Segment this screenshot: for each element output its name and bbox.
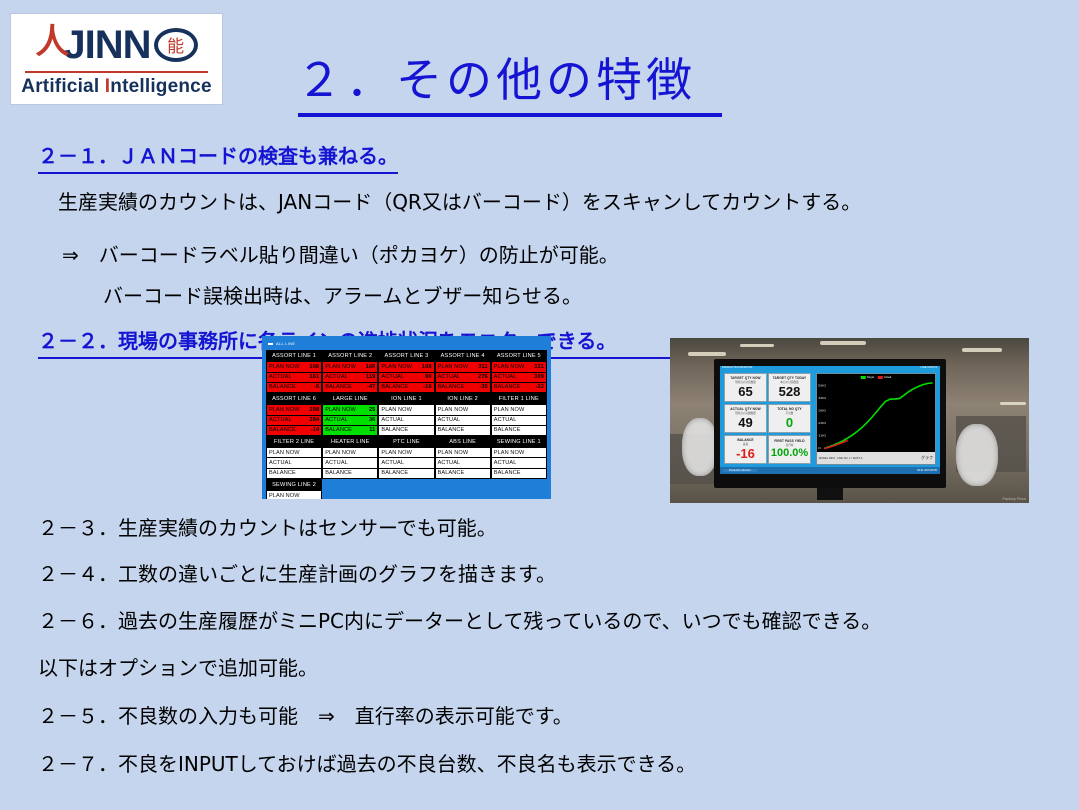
taskbar-clock: 09:31 2021/11/05 — [917, 469, 937, 472]
line-card-row: PLAN NOW — [266, 448, 322, 458]
monitor-window-titlebar: PRODUCTION MONITOR LINE STATUS — [720, 366, 940, 371]
monitor-content: TARGET QTY NOW現時点の計画数量65TARGET QTY TODAY… — [720, 371, 940, 465]
chart-y-tick: 0 — [818, 446, 822, 450]
line-card-row-label: BALANCE — [438, 384, 465, 390]
line-card-title: ION LINE 2 — [435, 393, 491, 405]
line-card-row-label: PLAN NOW — [438, 364, 469, 370]
line-card[interactable]: SEWING LINE 2PLAN NOWACTUALBALANCE — [266, 479, 322, 499]
line-card-row-value: 284 — [310, 417, 320, 423]
bottom-line-2-7: ２－７．不良をINPUTしておけば過去の不良台数、不良名も表示できる。 — [38, 748, 696, 777]
line-card-row-value: 25 — [369, 407, 375, 413]
kpi-label-en: FIRST PASS YIELD — [774, 439, 804, 443]
line-card-row: ACTUAL36 — [322, 416, 378, 426]
line-card-row: BALANCE-14 — [266, 426, 322, 436]
line-card-row-label: PLAN NOW — [269, 407, 300, 413]
line-card-row: ACTUAL — [378, 416, 434, 426]
line-card-row-value: 36 — [369, 417, 375, 423]
line-card-row: ACTUAL — [266, 458, 322, 468]
line-card-row-label: BALANCE — [269, 470, 296, 476]
logo-divider — [25, 71, 208, 73]
page-title: ２．その他の特徴 — [296, 44, 696, 110]
line-card-row-value: 276 — [478, 374, 488, 380]
heading-2-1: ２－１．ＪＡＮコードの検査も兼ねる。 — [38, 140, 398, 174]
line-card-row: ACTUAL — [378, 458, 434, 468]
kpi-tile: TOTAL NG QTY不良数0 — [768, 404, 811, 433]
line-card[interactable]: ION LINE 2PLAN NOWACTUALBALANCE — [435, 393, 491, 436]
line-card-row-label: ACTUAL — [269, 417, 292, 423]
line-card-row-label: PLAN NOW — [381, 364, 412, 370]
line-card[interactable]: PTC LINEPLAN NOWACTUALBALANCE — [378, 436, 434, 479]
bottom-line-2-3: ２－３．生産実績のカウントはセンサーでも可能。 — [38, 512, 497, 541]
line-card-row: ACTUAL90 — [378, 373, 434, 383]
line-card-row-label: BALANCE — [269, 427, 296, 433]
line-card[interactable]: ION LINE 1PLAN NOWACTUALBALANCE — [378, 393, 434, 436]
legend-swatch — [878, 376, 883, 379]
kpi-label-en: BALANCE — [737, 438, 753, 442]
line-card-row-label: BALANCE — [325, 384, 352, 390]
line-card-row: PLAN NOW — [322, 448, 378, 458]
line-card[interactable]: ABS LINEPLAN NOWACTUALBALANCE — [435, 436, 491, 479]
line-card-row-label: PLAN NOW — [325, 407, 356, 413]
line-card-row-label: BALANCE — [494, 470, 521, 476]
line-card-row: BALANCE-18 — [378, 383, 434, 393]
line-card-row-value: -14 — [311, 427, 319, 433]
body-line-3: バーコード誤検出時は、アラームとブザー知らせる。 — [103, 280, 582, 309]
kpi-tile: TARGET QTY TODAY本日の計画数量528 — [768, 373, 811, 402]
line-card-title: FILTER 2 LINE — [266, 436, 322, 448]
material-bale — [682, 418, 718, 476]
line-card-row-value: -5 — [314, 384, 319, 390]
line-card[interactable]: ASSORT LINE 5PLAN NOW331ACTUAL309BALANCE… — [491, 350, 547, 393]
kpi-label-en: ACTUAL QTY NOW — [730, 407, 761, 411]
line-card-row-label: PLAN NOW — [325, 364, 356, 370]
line-card-title: HEATER LINE — [322, 436, 378, 448]
line-card-row-value: -47 — [367, 384, 375, 390]
line-card-row-value: -22 — [536, 384, 544, 390]
line-card-row-label: ACTUAL — [325, 460, 348, 466]
chart-footer: MODEL INFO : LINE NO. 1 / SHIFT A グラフ — [817, 452, 935, 464]
line-card-row-label: BALANCE — [438, 470, 465, 476]
line-card-row-value: 166 — [310, 364, 320, 370]
line-card-row: BALANCE — [322, 469, 378, 479]
line-card-row-label: ACTUAL — [494, 374, 517, 380]
line-card-row-label: BALANCE — [269, 384, 296, 390]
bottom-line-option: 以下はオプションで追加可能。 — [38, 652, 318, 681]
line-card-title: ABS LINE — [435, 436, 491, 448]
line-card[interactable]: HEATER LINEPLAN NOWACTUALBALANCE — [322, 436, 378, 479]
line-card-row: ACTUAL276 — [435, 373, 491, 383]
line-card-title: ASSORT LINE 1 — [266, 350, 322, 362]
logo-wordmark-row: 人 JINN 能 — [17, 21, 216, 69]
line-card-title: ASSORT LINE 2 — [322, 350, 378, 362]
line-card-row: PLAN NOW — [491, 405, 547, 415]
line-card-row: BALANCE-5 — [266, 383, 322, 393]
slide-root: 人 JINN 能 Artificial Intelligence ２．その他の特… — [0, 0, 1079, 810]
chart-y-tick: 200 — [818, 421, 827, 425]
kpi-label-en: TARGET QTY NOW — [730, 376, 760, 380]
line-card-row-label: PLAN NOW — [438, 407, 469, 413]
line-card-row-label: BALANCE — [494, 427, 521, 433]
line-card-title: PTC LINE — [378, 436, 434, 448]
line-card-row-label: BALANCE — [381, 427, 408, 433]
line-card[interactable]: LARGE LINEPLAN NOW25ACTUAL36BALANCE11 — [322, 393, 378, 436]
line-card-row: ACTUAL — [435, 416, 491, 426]
line-card-row-value: 309 — [534, 374, 544, 380]
line-card-row-label: PLAN NOW — [381, 450, 412, 456]
line-card-row-label: BALANCE — [494, 384, 521, 390]
line-card-row: PLAN NOW — [378, 405, 434, 415]
seal-kanji: 能 — [167, 32, 184, 57]
title-underline — [298, 113, 722, 117]
kpi-tile: FIRST PASS YIELD直行率100.0% — [768, 435, 811, 464]
line-card-row-value: 119 — [366, 374, 375, 380]
all-line-dashboard-image: ALL LINE ASSORT LINE 1PLAN NOW166ACTUAL1… — [262, 336, 551, 499]
line-card[interactable]: ASSORT LINE 4PLAN NOW311ACTUAL276BALANCE… — [435, 350, 491, 393]
line-card-row-value: -35 — [479, 384, 487, 390]
line-card-row-label: ACTUAL — [325, 374, 348, 380]
line-card-row: BALANCE — [435, 469, 491, 479]
line-card-row: ACTUAL309 — [491, 373, 547, 383]
bottom-line-2-6: ２－６．過去の生産履歴がミニPC内にデーターとして残っているので、いつでも確認で… — [38, 605, 881, 634]
line-card-row: ACTUAL — [435, 458, 491, 468]
line-card-row-label: PLAN NOW — [438, 450, 469, 456]
line-card-row-label: PLAN NOW — [494, 407, 525, 413]
line-card-row-label: BALANCE — [325, 427, 352, 433]
taskbar-app-button[interactable]: Production Monitor — [723, 469, 757, 472]
line-card-row: PLAN NOW — [435, 448, 491, 458]
body-line-2: ⇒ バーコードラベル貼り間違い（ポカヨケ）の防止が可能。 — [62, 239, 619, 268]
production-chart: TargetActual 0100200300400500 MODEL INFO… — [816, 373, 936, 465]
menu-icon — [268, 343, 273, 345]
line-card[interactable]: FILTER 1 LINEPLAN NOWACTUALBALANCE — [491, 393, 547, 436]
legend-swatch — [861, 376, 866, 379]
line-card-row: PLAN NOW166 — [266, 362, 322, 372]
kpi-label-en: TARGET QTY TODAY — [773, 376, 807, 380]
chart-legend: TargetActual — [861, 376, 891, 379]
legend-label: Actual — [884, 376, 891, 379]
line-card-row-label: PLAN NOW — [325, 450, 356, 456]
ceiling-light — [688, 352, 726, 356]
chart-footer-right: グラフ — [921, 455, 933, 461]
line-card-row-label: PLAN NOW — [269, 364, 300, 370]
line-card-row-label: ACTUAL — [494, 460, 517, 466]
line-card-title: ION LINE 1 — [378, 393, 434, 405]
kpi-value: 100.0% — [771, 448, 808, 460]
line-card-row: BALANCE — [491, 469, 547, 479]
chart-y-tick: 100 — [818, 434, 827, 438]
line-card-row: BALANCE-35 — [435, 383, 491, 393]
kpi-value: -16 — [736, 447, 755, 461]
line-card-row: BALANCE — [491, 426, 547, 436]
line-card-title: ASSORT LINE 5 — [491, 350, 547, 362]
line-card-row-value: 298 — [310, 407, 320, 413]
legend-entry: Target — [861, 376, 874, 379]
chart-y-tick: 500 — [818, 383, 827, 387]
line-card-title: FILTER 1 LINE — [491, 393, 547, 405]
kpi-label-en: TOTAL NG QTY — [777, 407, 802, 411]
logo-wordmark: JINN — [63, 25, 150, 65]
line-card-row: PLAN NOW — [491, 448, 547, 458]
line-card-row-label: BALANCE — [381, 384, 408, 390]
line-card-row-value: 166 — [366, 364, 376, 370]
line-card[interactable]: ASSORT LINE 3PLAN NOW108ACTUAL90BALANCE-… — [378, 350, 434, 393]
monitor-taskbar: Production Monitor 09:31 2021/11/05 — [720, 467, 940, 474]
monitor-screen: PRODUCTION MONITOR LINE STATUS TARGET QT… — [720, 366, 940, 474]
kpi-tile: TARGET QTY NOW現時点の計画数量65 — [724, 373, 767, 402]
chart-y-tick: 400 — [818, 396, 827, 400]
person-kanji-icon: 人 — [35, 25, 69, 59]
line-card[interactable]: ASSORT LINE 2PLAN NOW166ACTUAL119BALANCE… — [322, 350, 378, 393]
monitor-window-title: PRODUCTION MONITOR — [722, 366, 752, 369]
line-card-row-label: ACTUAL — [438, 374, 461, 380]
line-card-row-label: ACTUAL — [381, 417, 404, 423]
kpi-value: 49 — [738, 416, 752, 430]
line-card-row-label: BALANCE — [381, 470, 408, 476]
line-card-row: ACTUAL — [491, 416, 547, 426]
dashboard-grid: ASSORT LINE 1PLAN NOW166ACTUAL161BALANCE… — [266, 350, 547, 499]
line-card-row: BALANCE — [378, 426, 434, 436]
bottom-line-2-4: ２－４．工数の違いごとに生産計画のグラフを描きます。 — [38, 558, 556, 587]
line-card-row: BALANCE — [266, 469, 322, 479]
monitor-window-subtitle: LINE STATUS — [921, 366, 937, 369]
dashboard-titlebar: ALL LINE — [266, 339, 547, 348]
line-card-title: LARGE LINE — [322, 393, 378, 405]
factory-monitor-photo: PRODUCTION MONITOR LINE STATUS TARGET QT… — [670, 338, 1029, 503]
line-card-row-label: ACTUAL — [381, 460, 404, 466]
line-card-row: ACTUAL — [322, 458, 378, 468]
line-card-row: ACTUAL119 — [322, 373, 378, 383]
line-card-row: PLAN NOW — [378, 448, 434, 458]
line-card-row-value: 311 — [478, 364, 487, 370]
line-card-row-label: PLAN NOW — [269, 450, 300, 456]
line-card-row: BALANCE-22 — [491, 383, 547, 393]
kpi-value: 65 — [738, 385, 752, 399]
line-card-row-label: ACTUAL — [438, 417, 461, 423]
line-card-row: BALANCE — [435, 426, 491, 436]
line-card-row-value: 90 — [425, 374, 431, 380]
material-bale — [956, 424, 998, 486]
line-card-row: BALANCE11 — [322, 426, 378, 436]
line-card-row-label: PLAN NOW — [494, 450, 525, 456]
chart-y-tick: 300 — [818, 409, 827, 413]
ceiling-light — [1000, 402, 1026, 405]
legend-label: Target — [867, 376, 874, 379]
line-card-row-label: ACTUAL — [325, 417, 348, 423]
line-card-row: ACTUAL284 — [266, 416, 322, 426]
line-card[interactable]: ASSORT LINE 6PLAN NOW298ACTUAL284BALANCE… — [266, 393, 322, 436]
dashboard-app-label: ALL LINE — [276, 341, 295, 346]
line-card-row: PLAN NOW298 — [266, 405, 322, 415]
kpi-tile: ACTUAL QTY NOW現時点の実績数量49 — [724, 404, 767, 433]
line-card-row-label: PLAN NOW — [269, 493, 300, 499]
line-card-row-value: 108 — [422, 364, 432, 370]
line-card-row-label: ACTUAL — [269, 460, 292, 466]
kpi-tile: BALANCE差異-16 — [724, 435, 767, 464]
seal-icon: 能 — [154, 28, 198, 62]
line-card-row: ACTUAL161 — [266, 373, 322, 383]
line-card[interactable]: FILTER 2 LINEPLAN NOWACTUALBALANCE — [266, 436, 322, 479]
line-card-row-label: ACTUAL — [381, 374, 404, 380]
line-card-title: ASSORT LINE 3 — [378, 350, 434, 362]
kpi-value: 0 — [786, 416, 793, 430]
line-card-title: SEWING LINE 1 — [491, 436, 547, 448]
line-card-row-label: PLAN NOW — [381, 407, 412, 413]
line-card-row: PLAN NOW331 — [491, 362, 547, 372]
line-card-title: ASSORT LINE 6 — [266, 393, 322, 405]
line-card-title: ASSORT LINE 4 — [435, 350, 491, 362]
ceiling-light — [740, 344, 774, 347]
line-card-row: ACTUAL — [491, 458, 547, 468]
body-line-1: 生産実績のカウントは、JANコード（QR又はバーコード）をスキャンしてカウントす… — [58, 186, 861, 215]
line-card-title: SEWING LINE 2 — [266, 479, 322, 491]
line-card-row: BALANCE — [378, 469, 434, 479]
logo-subtitle: Artificial Intelligence — [21, 76, 211, 98]
line-card-row: PLAN NOW311 — [435, 362, 491, 372]
company-logo: 人 JINN 能 Artificial Intelligence — [10, 13, 223, 105]
kpi-value: 528 — [779, 385, 801, 399]
legend-entry: Actual — [878, 376, 891, 379]
line-card-row-label: ACTUAL — [438, 460, 461, 466]
line-card-row: BALANCE-47 — [322, 383, 378, 393]
line-card-row-value: 11 — [369, 427, 375, 433]
bottom-line-2-5: ２－５．不良数の入力も可能 ⇒ 直行率の表示可能です。 — [38, 700, 573, 729]
line-card[interactable]: SEWING LINE 1PLAN NOWACTUALBALANCE — [491, 436, 547, 479]
line-card-row-label: PLAN NOW — [494, 364, 525, 370]
line-card-row-label: BALANCE — [438, 427, 465, 433]
line-card-row: PLAN NOW108 — [378, 362, 434, 372]
line-card-row: PLAN NOW166 — [322, 362, 378, 372]
wall-monitor: PRODUCTION MONITOR LINE STATUS TARGET QT… — [714, 359, 946, 488]
line-card-row-value: 161 — [310, 374, 320, 380]
line-card-row: PLAN NOW — [266, 491, 322, 499]
line-card-row-value: -18 — [423, 384, 431, 390]
kpi-panel: TARGET QTY NOW現時点の計画数量65TARGET QTY TODAY… — [724, 373, 812, 465]
line-card-row: PLAN NOW25 — [322, 405, 378, 415]
line-card-row-value: 331 — [534, 364, 544, 370]
photo-watermark: Factory Floor — [1002, 496, 1026, 501]
chart-plot-area: 0100200300400500 — [817, 380, 935, 452]
ceiling-light — [820, 341, 866, 345]
line-card-row-label: ACTUAL — [269, 374, 292, 380]
monitor-stand — [817, 488, 843, 500]
line-card-row-label: BALANCE — [325, 470, 352, 476]
chart-footer-left: MODEL INFO : LINE NO. 1 / SHIFT A — [819, 457, 862, 460]
chart-series-target — [824, 383, 933, 449]
line-card[interactable]: ASSORT LINE 1PLAN NOW166ACTUAL161BALANCE… — [266, 350, 322, 393]
ceiling-light — [962, 348, 1002, 352]
chart-series-actual — [824, 440, 848, 448]
line-card-row: PLAN NOW — [435, 405, 491, 415]
line-card-row-label: ACTUAL — [494, 417, 517, 423]
